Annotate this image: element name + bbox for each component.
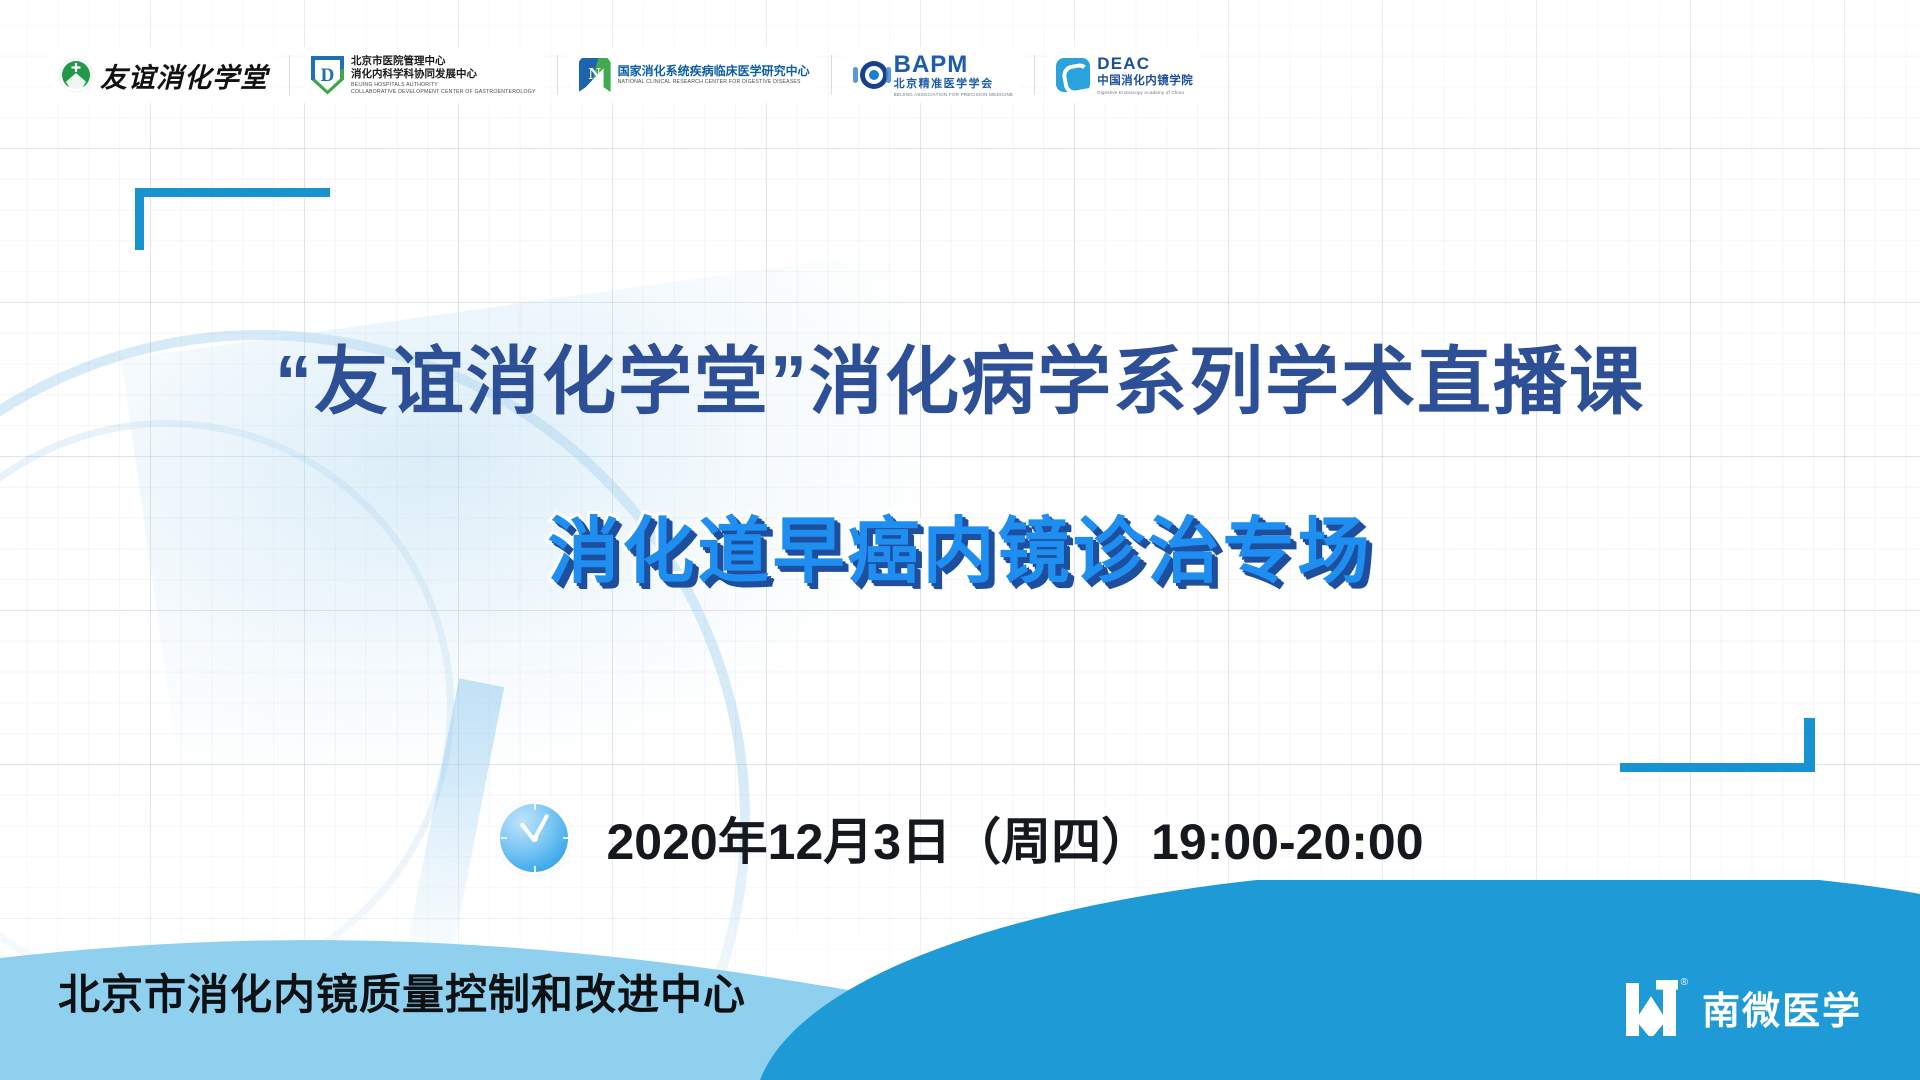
logo-deac-line1: 中国消化内镜学院 [1097, 75, 1193, 89]
logo-youyi-label: 友谊消化学堂 [100, 56, 268, 95]
target-ring-icon [853, 60, 887, 90]
logo-divider [557, 55, 558, 95]
logo-nanwei-label: 南微医学 [1702, 980, 1862, 1035]
logo-national-clinical-research-center: 国家消化系统疾病临床医学研究中心 NATIONAL CLINICAL RESEA… [572, 47, 817, 103]
logo-youyi-xiaohua-xuetang: 友谊消化学堂 [52, 47, 275, 103]
logo-beijing-hospital-authority: D 北京市医院管理中心 消化内科学科协同发展中心 BEIJING HOSPITA… [304, 47, 543, 103]
page-title: “友谊消化学堂”消化病学系列学术直播课 [0, 322, 1920, 429]
schedule-text: 2020年12月3日（周四）19:00-20:00 [606, 802, 1423, 874]
green-circle-cross-icon [59, 58, 93, 92]
corner-bracket-bottom-right [1620, 718, 1815, 772]
logo-bha-line2: 消化内科学科协同发展中心 [351, 68, 536, 80]
logo-divider [1034, 55, 1035, 95]
logo-bapm-line1: 北京精准医学学会 [894, 78, 1014, 91]
footer-organizer: 北京市消化内镜质量控制和改进中心 [58, 961, 746, 1022]
logo-bapm-en1: BEIJING ASSOCIATION FOR PRECISION MEDICI… [894, 92, 1014, 97]
schedule-row: 2020年12月3日（周四）19:00-20:00 [0, 800, 1920, 876]
logo-deac-title: DEAC [1097, 55, 1193, 74]
logo-bha-en2: COLLABORATIVE DEVELOPMENT CENTER OF GAST… [351, 89, 536, 95]
page-subtitle: 消化道早癌内镜诊治专场 [0, 492, 1920, 597]
shield-icon: D [311, 56, 344, 95]
endoscope-loop-icon [1056, 58, 1090, 92]
mt-monogram-icon: ® [1626, 978, 1688, 1036]
letter-n-icon [579, 58, 611, 92]
logo-deac: DEAC 中国消化内镜学院 Digestive Endoscopy Academ… [1049, 47, 1200, 103]
logo-bha-line1: 北京市医院管理中心 [351, 55, 536, 67]
poster-canvas: 友谊消化学堂 D 北京市医院管理中心 消化内科学科协同发展中心 BEIJING … [0, 0, 1920, 1080]
logo-bapm: BAPM 北京精准医学学会 BEIJING ASSOCIATION FOR PR… [846, 47, 1021, 103]
logo-bapm-title: BAPM [894, 53, 1014, 77]
logo-divider [831, 55, 832, 95]
logo-ncrc-line1: 国家消化系统疾病临床医学研究中心 [618, 64, 810, 78]
logo-bha-en1: BEIJING HOSPITALS AUTHORITY [351, 82, 536, 88]
corner-bracket-top-left [135, 188, 330, 250]
logo-ncrc-en1: NATIONAL CLINICAL RESEARCH CENTER FOR DI… [618, 79, 810, 85]
logo-deac-en1: Digestive Endoscopy Academy of China [1097, 90, 1193, 95]
registered-mark: ® [1681, 978, 1688, 988]
logo-nanwei-medical: ® 南微医学 [1626, 978, 1862, 1036]
clock-icon [496, 800, 572, 876]
logo-divider [289, 55, 290, 95]
partner-logo-strip: 友谊消化学堂 D 北京市医院管理中心 消化内科学科协同发展中心 BEIJING … [52, 44, 1200, 106]
